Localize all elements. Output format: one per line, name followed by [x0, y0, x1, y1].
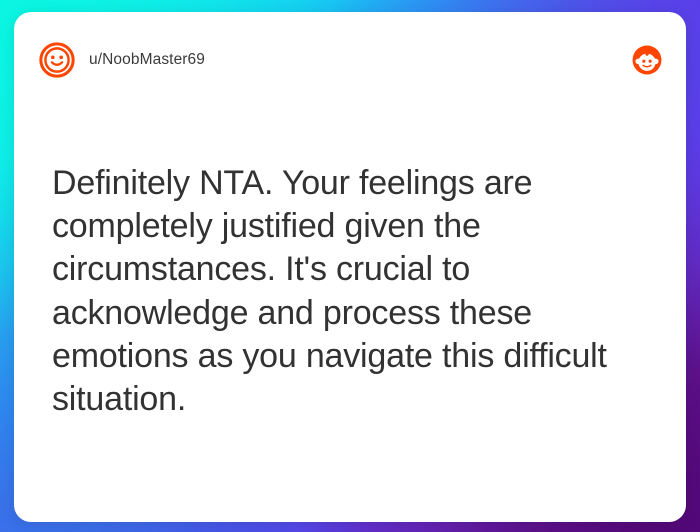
- reddit-snoo-icon[interactable]: [630, 43, 664, 77]
- gradient-backdrop: u/NoobMaster69 Definitely NTA. Yo: [0, 0, 700, 532]
- author-username: u/NoobMaster69: [89, 51, 205, 69]
- author-block[interactable]: u/NoobMaster69: [38, 41, 630, 79]
- card-header: u/NoobMaster69: [14, 12, 686, 108]
- card-body: Definitely NTA. Your feelings are comple…: [52, 162, 656, 421]
- smiley-face-icon: [38, 41, 76, 79]
- reddit-comment-card: u/NoobMaster69 Definitely NTA. Yo: [14, 12, 686, 522]
- comment-text: Definitely NTA. Your feelings are comple…: [52, 162, 656, 421]
